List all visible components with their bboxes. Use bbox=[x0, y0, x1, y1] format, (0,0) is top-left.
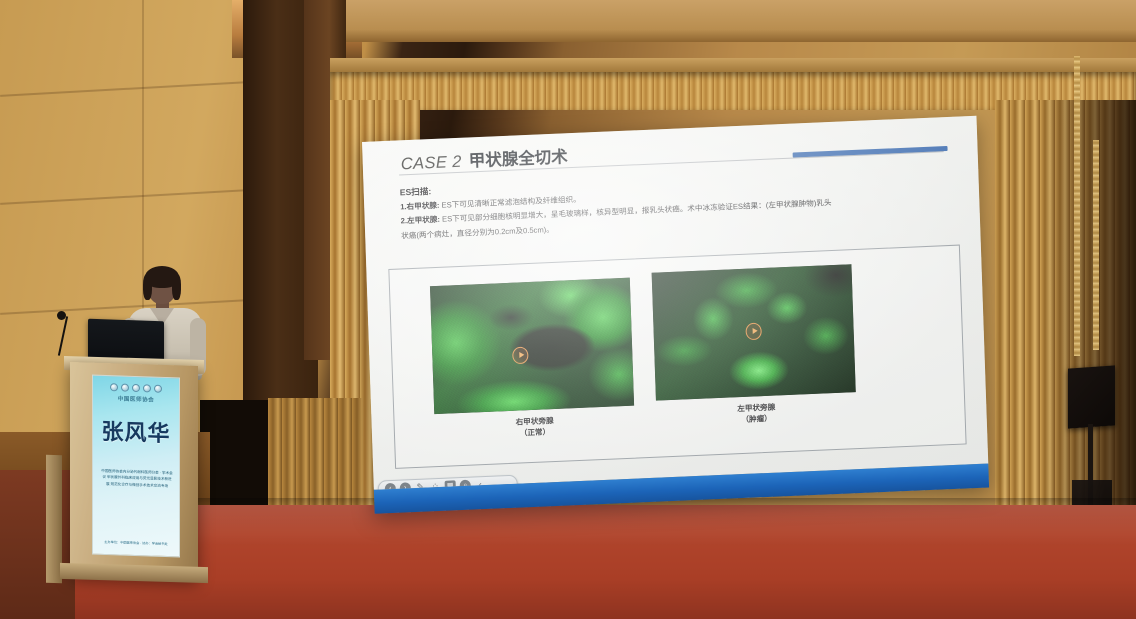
powerpoint-slide[interactable]: CASE 2甲状腺全切术 ES扫描: 1.右甲状腺: ES下可见清晰正常滤泡结构… bbox=[362, 116, 988, 490]
projection-screen[interactable]: CASE 2甲状腺全切术 ES扫描: 1.右甲状腺: ES下可见清晰正常滤泡结构… bbox=[362, 116, 989, 514]
org-logo-icon bbox=[110, 383, 118, 391]
sign-org-line: 中国医师协会 bbox=[93, 394, 179, 405]
figure-container: 右甲状旁腺 （正常） 左甲状旁腺 bbox=[388, 245, 966, 469]
ceiling-soffit bbox=[330, 0, 1136, 42]
figure-left[interactable]: 右甲状旁腺 （正常） bbox=[430, 278, 634, 414]
sign-body-text: 中国医师协会内分泌代谢科医师分会 · 学术会议 甲状腺外科临床应用与荧光显影技术… bbox=[101, 468, 173, 489]
body-line-3-text: 状癌(两个病灶，直径分别为0.2cm及0.5cm)。 bbox=[401, 224, 554, 240]
curtain-rope bbox=[1074, 56, 1080, 356]
speaker-name: 张风华 bbox=[93, 414, 179, 449]
figure-right-caption: 左甲状旁腺 （肿瘤） bbox=[656, 398, 857, 429]
fluorescence-image-left-parathyroid[interactable] bbox=[652, 264, 856, 400]
slide-title-prefix: CASE 2 bbox=[400, 153, 462, 174]
org-logo-icon bbox=[154, 385, 162, 393]
podium-sign: 中国医师协会 张风华 中国医师协会内分泌代谢科医师分会 · 学术会议 甲状腺外科… bbox=[92, 375, 180, 558]
figure-right[interactable]: 左甲状旁腺 （肿瘤） bbox=[652, 264, 856, 400]
sign-logo-row bbox=[93, 383, 179, 394]
sign-footer: 主办单位：中国医师协会 · 协办：学会秘书处 bbox=[93, 539, 179, 547]
org-logo-icon bbox=[132, 384, 140, 392]
body-line-1-label: 1.右甲状腺: bbox=[400, 201, 440, 212]
slide-body: ES扫描: 1.右甲状腺: ES下可见清晰正常滤泡结构及纤维组织。 2.左甲状腺… bbox=[400, 162, 961, 245]
backstage-curtain bbox=[268, 398, 363, 508]
play-triangle-icon bbox=[752, 328, 757, 334]
presenter-hair-left bbox=[143, 274, 152, 300]
slide-title: CASE 2甲状腺全切术 bbox=[400, 143, 568, 174]
image-noise bbox=[430, 278, 634, 414]
fluorescence-image-right-parathyroid[interactable] bbox=[430, 278, 634, 414]
stage-floor-shadow bbox=[0, 470, 75, 619]
presenter-hair-right bbox=[172, 274, 181, 300]
conference-hall-photo: CASE 2甲状腺全切术 ES扫描: 1.右甲状腺: ES下可见清晰正常滤泡结构… bbox=[0, 0, 1136, 619]
figure-row: 右甲状旁腺 （正常） 左甲状旁腺 bbox=[389, 246, 965, 468]
curtain-rope bbox=[1093, 140, 1099, 350]
body-line-1-text: ES下可见清晰正常滤泡结构及纤维组织。 bbox=[441, 195, 580, 210]
org-logo-icon bbox=[121, 384, 129, 392]
figure-left-caption: 右甲状旁腺 （正常） bbox=[435, 412, 636, 443]
body-line-2-label: 2.左甲状腺: bbox=[401, 215, 441, 226]
wall-speaker bbox=[1068, 365, 1115, 428]
org-logo-icon bbox=[143, 384, 151, 392]
play-triangle-icon bbox=[519, 352, 524, 358]
